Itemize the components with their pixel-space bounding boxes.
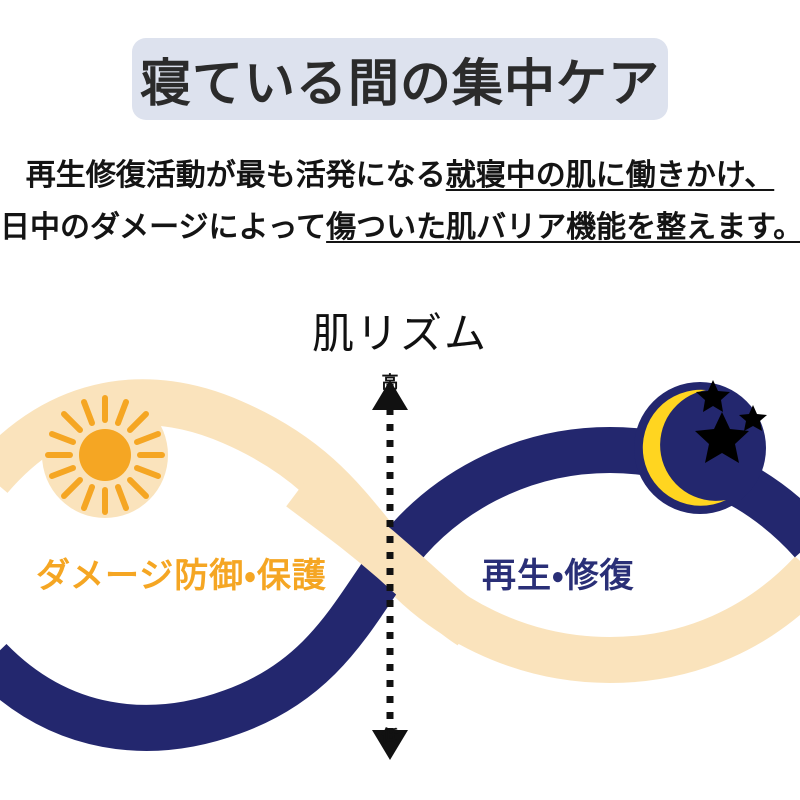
body-copy: 再生修復活動が最も活発になる就寝中の肌に働きかけ、 日中のダメージによって傷つい… — [0, 150, 800, 254]
moon-icon — [634, 380, 767, 514]
axis-label-high: 高 — [360, 368, 420, 393]
chart-title: 肌リズム — [0, 300, 800, 361]
series-label-night: 再生・修復 — [482, 548, 635, 597]
copy-line-1-plain: 再生修復活動が最も活発になる — [26, 159, 446, 192]
copy-line-2-underlined: 傷ついた肌バリア機能を整えます。 — [326, 211, 800, 244]
copy-line-2: 日中のダメージによって傷ついた肌バリア機能を整えます。 — [0, 202, 800, 254]
copy-line-1-underlined: 就寝中の肌に働きかけ、 — [446, 159, 775, 192]
infographic-page: 寝ている間の集中ケア 再生修復活動が最も活発になる就寝中の肌に働きかけ、 日中の… — [0, 0, 800, 800]
copy-line-2-plain: 日中のダメージによって — [0, 211, 326, 244]
page-title: 寝ている間の集中ケア — [132, 38, 668, 120]
copy-line-1: 再生修復活動が最も活発になる就寝中の肌に働きかけ、 — [0, 150, 800, 202]
series-label-day: ダメージ防御・保護 — [36, 548, 327, 597]
sun-icon — [42, 392, 168, 518]
axis-label-low: 低 — [360, 722, 420, 747]
